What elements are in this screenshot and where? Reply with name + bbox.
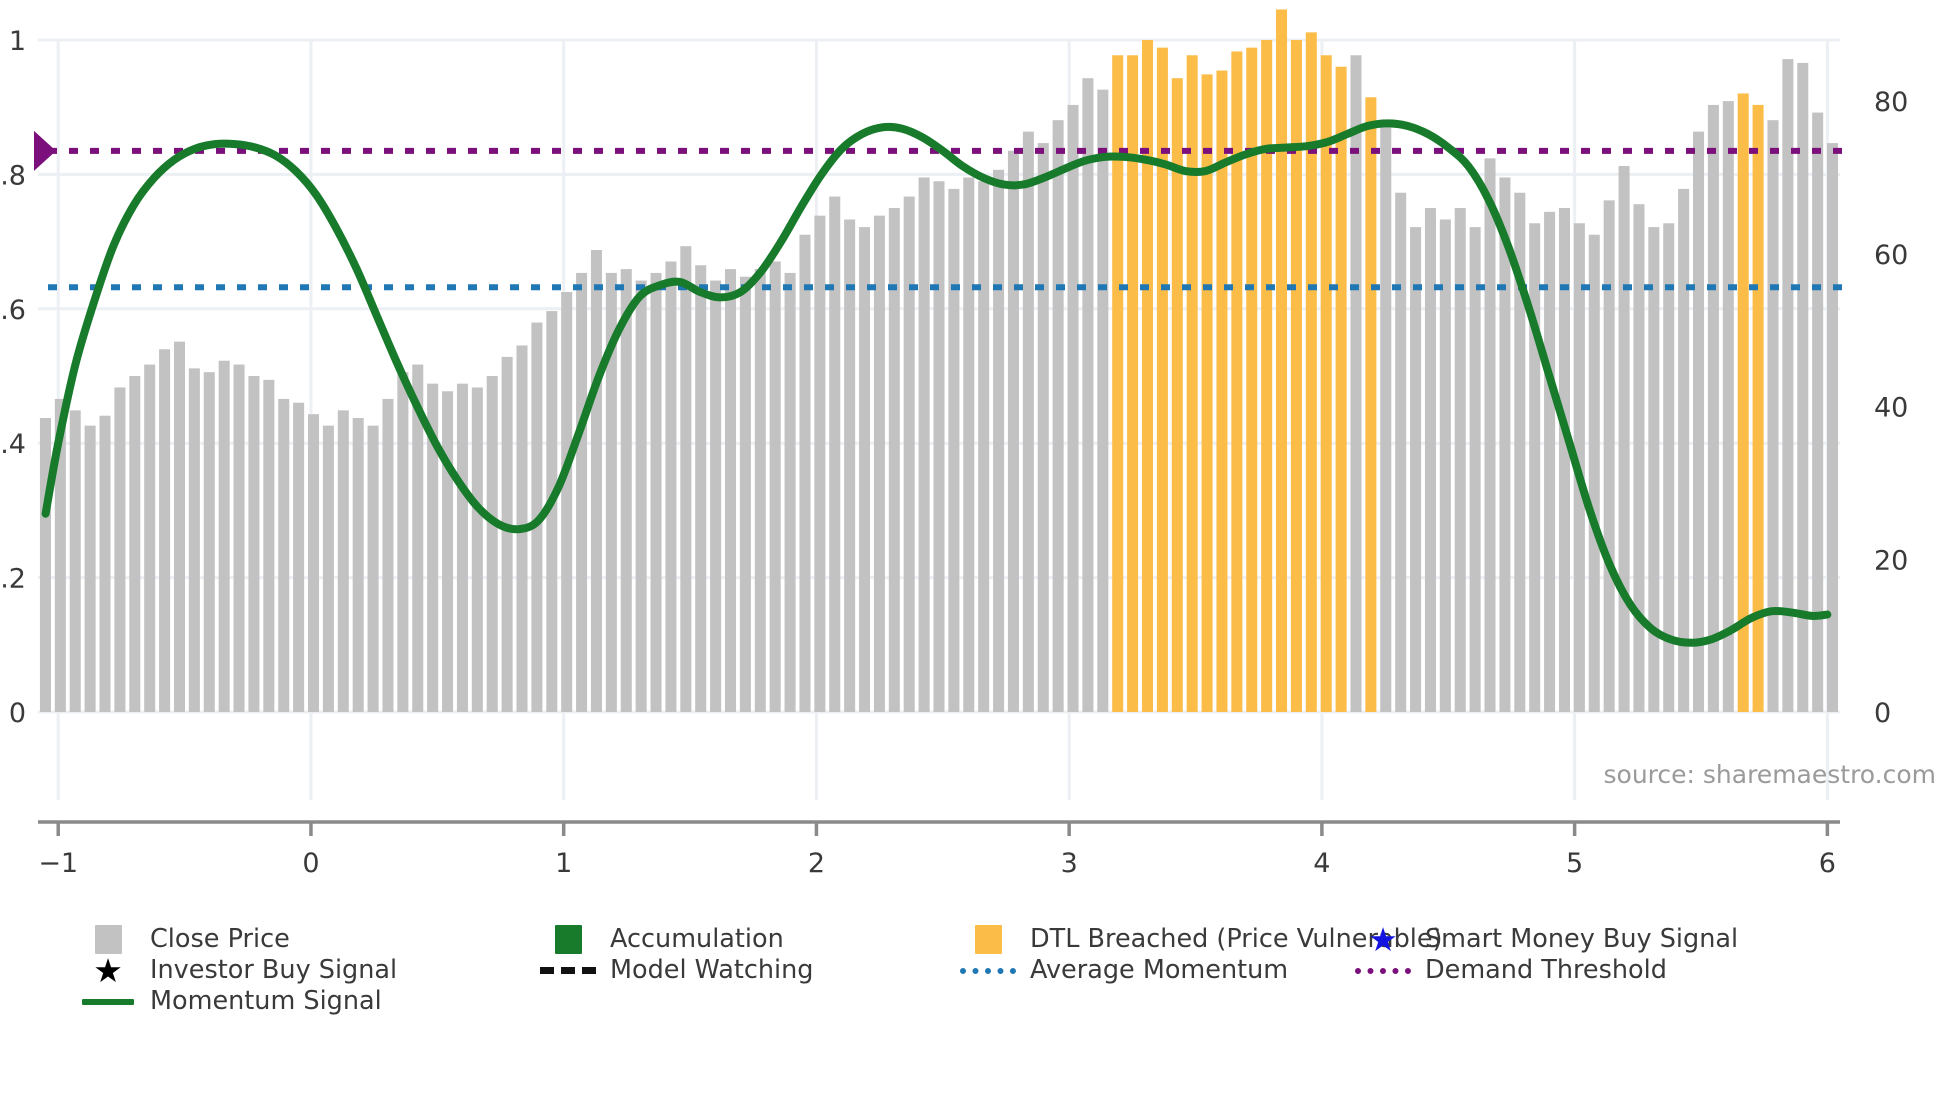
- svg-text:0: 0: [302, 848, 319, 879]
- square-swatch-icon: [78, 925, 138, 954]
- solid-line-icon: [78, 999, 138, 1005]
- svg-text:1: 1: [555, 848, 572, 879]
- swatch: [960, 968, 1016, 974]
- svg-text:60: 60: [1874, 240, 1908, 271]
- legend-row: ★Investor Buy SignalModel WatchingAverag…: [78, 951, 1948, 982]
- axes: [38, 822, 1840, 836]
- square-swatch-icon: [538, 925, 598, 954]
- svg-text:−1: −1: [38, 848, 78, 879]
- svg-text:2: 2: [808, 848, 825, 879]
- dotted-line-icon: [1353, 968, 1413, 974]
- svg-text:40: 40: [1874, 393, 1908, 424]
- svg-text:0: 0: [9, 698, 26, 729]
- svg-text:0.6: 0.6: [0, 295, 26, 326]
- svg-text:0.8: 0.8: [0, 160, 26, 191]
- svg-text:3: 3: [1061, 848, 1078, 879]
- dashed-line-icon: [538, 967, 598, 974]
- swatch: [555, 925, 582, 954]
- svg-text:4: 4: [1313, 848, 1330, 879]
- svg-text:20: 20: [1874, 545, 1908, 576]
- chart-page: 00.20.40.60.81020406080−10123456 source:…: [0, 0, 1960, 1102]
- svg-text:0: 0: [1874, 698, 1891, 729]
- dotted-line-icon: [958, 968, 1018, 974]
- svg-text:1: 1: [9, 26, 26, 57]
- swatch: [975, 925, 1002, 954]
- legend-item[interactable]: Momentum Signal: [78, 982, 382, 1021]
- legend-label: Momentum Signal: [150, 982, 382, 1021]
- svg-text:80: 80: [1874, 87, 1908, 118]
- swatch: [1355, 968, 1411, 974]
- swatch: [95, 925, 122, 954]
- svg-text:6: 6: [1819, 848, 1836, 879]
- svg-text:5: 5: [1566, 848, 1583, 879]
- legend-row: Close PriceAccumulationDTL Breached (Pri…: [78, 920, 1948, 951]
- swatch: [82, 999, 134, 1005]
- chart-legend: Close PriceAccumulationDTL Breached (Pri…: [78, 920, 1948, 1013]
- svg-text:0.4: 0.4: [0, 429, 26, 460]
- svg-text:0.2: 0.2: [0, 564, 26, 595]
- square-swatch-icon: [958, 925, 1018, 954]
- source-attribution: source: sharemaestro.com: [1604, 760, 1937, 789]
- legend-row: Momentum Signal: [78, 982, 1948, 1013]
- swatch: [540, 967, 596, 974]
